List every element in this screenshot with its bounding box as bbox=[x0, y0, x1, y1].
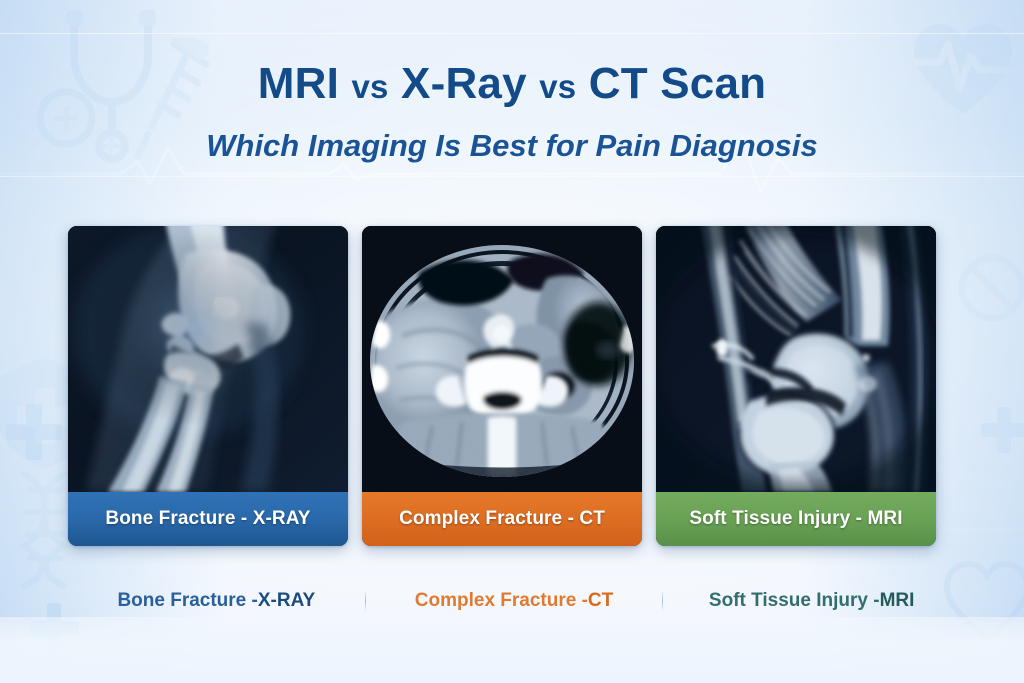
mri-scan-image bbox=[656, 226, 936, 492]
title-mri: MRI bbox=[258, 59, 339, 108]
card-caption-mri: Soft Tissue Injury - MRI bbox=[656, 492, 936, 546]
legend-item-ct: Complex Fracture - CT bbox=[366, 590, 663, 612]
title-vs-1: vs bbox=[352, 68, 389, 105]
legend-item-mri: Soft Tissue Injury - MRI bbox=[663, 590, 960, 612]
legend-mri-emphasis: MRI bbox=[880, 590, 915, 612]
infographic-canvas: MRI vs X-Ray vs CT Scan Which Imaging Is… bbox=[0, 0, 1024, 683]
title-vs-2: vs bbox=[539, 68, 576, 105]
legend-row: Bone Fracture - X-RAY Complex Fracture -… bbox=[68, 584, 960, 618]
scan-card-mri[interactable]: Soft Tissue Injury - MRI bbox=[656, 226, 936, 546]
legend-mri-prefix: Soft Tissue Injury - bbox=[709, 590, 880, 612]
legend-xray-emphasis: X-RAY bbox=[258, 590, 315, 612]
ct-scan-image bbox=[362, 226, 642, 492]
card-caption-ct: Complex Fracture - CT bbox=[362, 492, 642, 546]
x-ray-scan-image bbox=[68, 226, 348, 492]
background-bottom-band bbox=[0, 617, 1024, 683]
scan-card-xray[interactable]: Bone Fracture - X-RAY bbox=[68, 226, 348, 546]
scan-card-ct[interactable]: Complex Fracture - CT bbox=[362, 226, 642, 546]
title-xray: X-Ray bbox=[401, 59, 527, 108]
title-ct: CT Scan bbox=[589, 59, 766, 108]
page-subtitle: Which Imaging Is Best for Pain Diagnosis bbox=[0, 128, 1024, 164]
legend-ct-emphasis: CT bbox=[588, 590, 613, 612]
legend-xray-prefix: Bone Fracture - bbox=[117, 590, 257, 612]
card-caption-xray: Bone Fracture - X-RAY bbox=[68, 492, 348, 546]
background-accent-line bbox=[0, 176, 1024, 177]
scan-card-group: Bone Fracture - X-RAY bbox=[68, 226, 960, 546]
background-accent-line bbox=[0, 33, 1024, 34]
page-title: MRI vs X-Ray vs CT Scan bbox=[0, 59, 1024, 109]
legend-ct-prefix: Complex Fracture - bbox=[415, 590, 588, 612]
legend-item-xray: Bone Fracture - X-RAY bbox=[68, 590, 365, 612]
